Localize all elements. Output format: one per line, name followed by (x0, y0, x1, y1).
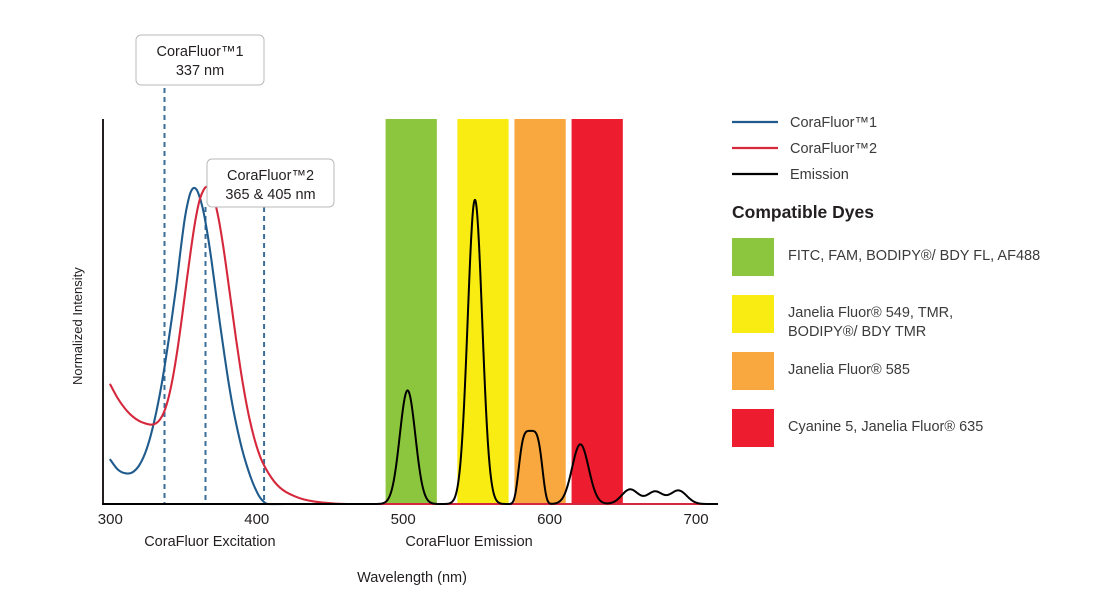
green-band (386, 119, 437, 504)
x-region-label-corafluor-excitation: CoraFluor Excitation (144, 534, 275, 550)
x-tick-label-400: 400 (244, 511, 269, 528)
legend-line-label-1: CoraFluor™2 (790, 141, 877, 157)
x-axis-tick-layer: 300400500600700 (98, 511, 709, 528)
corafluor2-callout: CoraFluor™2365 & 405 nm (207, 159, 334, 207)
legend-line-label-2: Emission (790, 167, 849, 183)
legend-dye-label-1-line-1: BODIPY®/ BDY TMR (788, 324, 926, 340)
legend-dye-label-2-line-0: Janelia Fluor® 585 (788, 362, 910, 378)
legend-dye-swatch-1 (732, 295, 774, 333)
legend-dye-swatch-3 (732, 409, 774, 447)
callout-layer: CoraFluor™1337 nmCoraFluor™2365 & 405 nm (136, 35, 334, 207)
dye-band-layer (386, 119, 623, 504)
x-tick-label-600: 600 (537, 511, 562, 528)
legend-dye-label-3-line-0: Cyanine 5, Janelia Fluor® 635 (788, 419, 983, 435)
legend-dye-swatch-2 (732, 352, 774, 390)
excitation-marker-layer (165, 88, 265, 504)
legend-dye-label-0-line-0: FITC, FAM, BODIPY®/ BDY FL, AF488 (788, 248, 1040, 264)
x-tick-label-700: 700 (684, 511, 709, 528)
x-region-label-corafluor-emission: CoraFluor Emission (405, 534, 532, 550)
legend: Compatible Dyes CoraFluor™1CoraFluor™2Em… (732, 115, 1040, 447)
x-tick-label-300: 300 (98, 511, 123, 528)
corafluor2-callout-line1: CoraFluor™2 (227, 168, 314, 184)
x-axis-title: Wavelength (nm) (357, 570, 467, 586)
legend-dye-swatch-0 (732, 238, 774, 276)
corafluor2-callout-line2: 365 & 405 nm (225, 187, 315, 203)
legend-line-label-0: CoraFluor™1 (790, 115, 877, 131)
x-tick-label-500: 500 (391, 511, 416, 528)
legend-dye-label-1-line-0: Janelia Fluor® 549, TMR, (788, 305, 953, 321)
spectra-figure: 300400500600700 CoraFluor ExcitationCora… (0, 0, 1110, 612)
x-axis-region-label-layer: CoraFluor ExcitationCoraFluor Emission (144, 534, 533, 550)
legend-heading: Compatible Dyes (732, 202, 874, 222)
yellow-band (457, 119, 508, 504)
y-axis-title: Normalized Intensity (70, 267, 85, 385)
corafluor1-callout: CoraFluor™1337 nm (136, 35, 264, 85)
corafluor1-callout-line1: CoraFluor™1 (156, 44, 243, 60)
corafluor1-callout-line2: 337 nm (176, 63, 224, 79)
